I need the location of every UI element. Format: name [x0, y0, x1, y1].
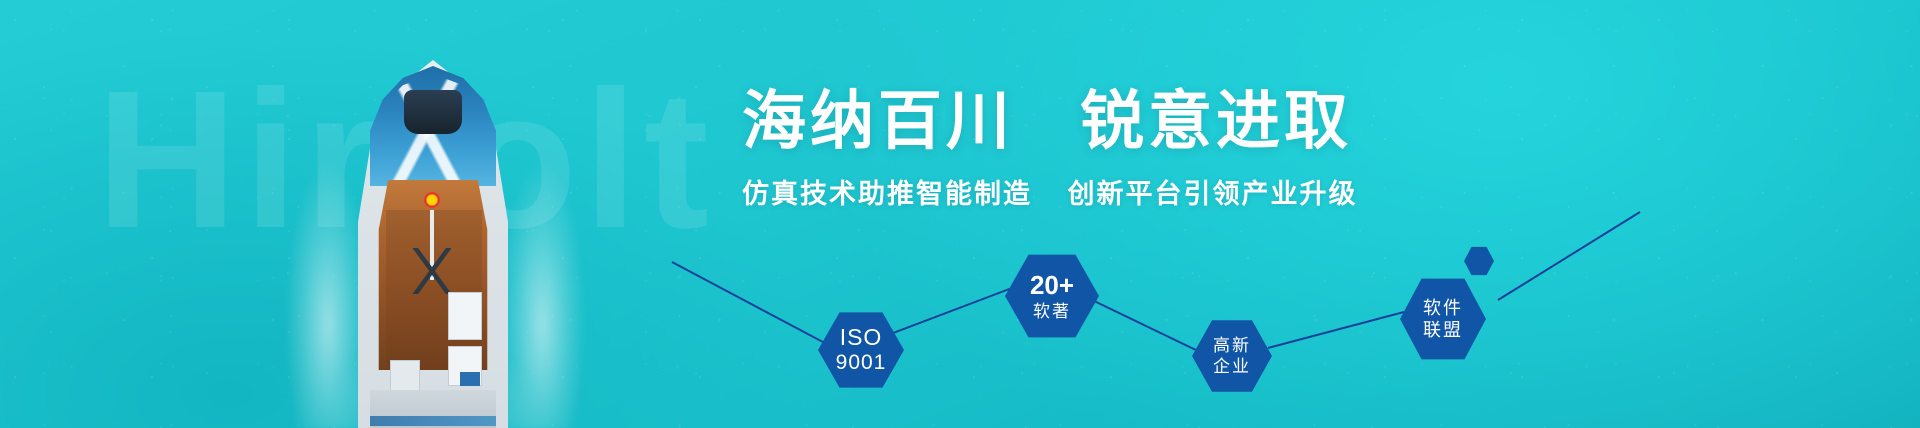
- connector-line-4: [1268, 312, 1404, 348]
- badge-software-alliance-line1: 软件: [1423, 298, 1463, 318]
- badge-iso-9001-line2: 9001: [836, 351, 887, 375]
- badge-software-copyrights-line2: 软著: [1033, 302, 1071, 321]
- badge-software-alliance-line2: 联盟: [1423, 320, 1463, 340]
- connector-line-3: [1092, 300, 1200, 352]
- connector-line-1: [672, 262, 838, 350]
- badge-high-tech-enterprise-line1: 高新: [1213, 336, 1251, 355]
- credential-badge-group: ISO 9001 20+ 软著 高新 企业 软件 联盟: [0, 0, 1920, 428]
- badge-software-copyrights-line1: 20+: [1030, 271, 1074, 300]
- connector-line-5: [1498, 212, 1640, 300]
- connector-line-2: [880, 288, 1012, 338]
- hero-banner: Hirfolt 海纳百川 锐意进取 仿真技术助推智能制造 创新平台引领: [0, 0, 1920, 428]
- badge-connector-lines: [0, 0, 1920, 428]
- badge-iso-9001-line1: ISO: [840, 325, 883, 351]
- badge-high-tech-enterprise-line2: 企业: [1213, 357, 1251, 376]
